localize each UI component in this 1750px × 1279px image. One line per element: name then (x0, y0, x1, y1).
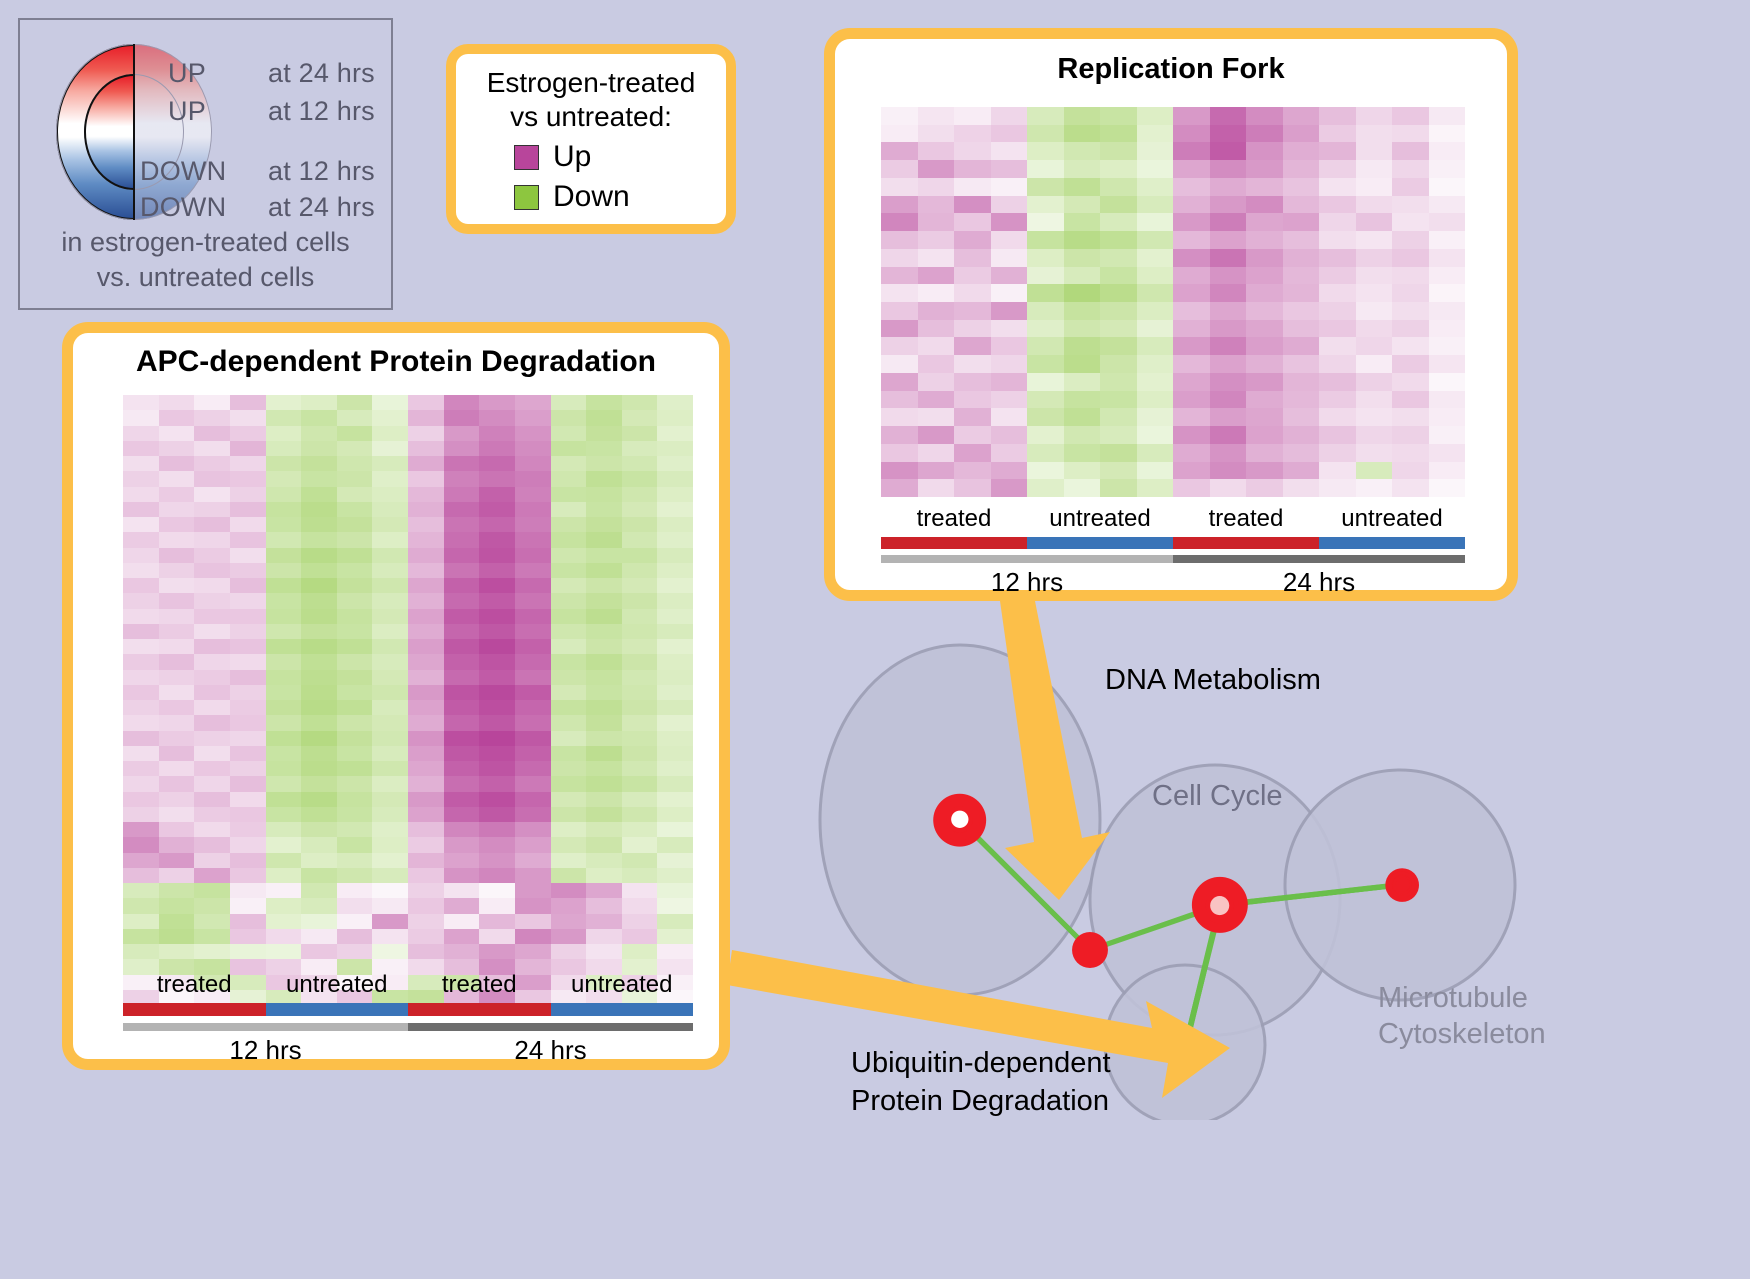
heatmap-cell (337, 517, 373, 532)
heatmap-cell (159, 624, 195, 639)
heatmap-cell (337, 426, 373, 441)
heatmap-cell (1356, 373, 1393, 391)
heatmap-cell (586, 837, 622, 852)
heatmap-cell (991, 462, 1028, 480)
heatmap-cell (123, 746, 159, 761)
heatmap-cell (408, 761, 444, 776)
heatmap-cell (1027, 231, 1064, 249)
column-group-label: untreated (1027, 505, 1173, 533)
heatmap-cell (515, 593, 551, 608)
heatmap-cell (123, 670, 159, 685)
heatmap-cell (408, 441, 444, 456)
heatmap-cell (622, 700, 658, 715)
heatmap-cell (1429, 462, 1466, 480)
heatmap-cell (479, 929, 515, 944)
heatmap-cell (515, 426, 551, 441)
heatmap-cell (657, 807, 693, 822)
heatmap-cell (408, 776, 444, 791)
heatmap-cell (479, 410, 515, 425)
heatmap-cell (301, 944, 337, 959)
heatmap-cell (586, 593, 622, 608)
heatmap-cell (301, 776, 337, 791)
heatmap-cell (337, 532, 373, 547)
heatmap-cell (230, 548, 266, 563)
heatmap-cell (479, 883, 515, 898)
heatmap-cell (586, 548, 622, 563)
heatmap-cell (1064, 355, 1101, 373)
heatmap-cell (515, 563, 551, 578)
heatmap-cell (1319, 249, 1356, 267)
heatmap-cell (551, 898, 587, 913)
heatmap-cell (408, 532, 444, 547)
heatmap-cell (622, 624, 658, 639)
network-node-core (951, 811, 968, 828)
heatmap-cell (194, 914, 230, 929)
heatmap-cell (918, 231, 955, 249)
heatmap-cell (194, 395, 230, 410)
heatmap-cell (622, 548, 658, 563)
heatmap-cell (551, 593, 587, 608)
heatmap-cell (194, 609, 230, 624)
heatmap-cell (622, 792, 658, 807)
heatmap-cell (1100, 444, 1137, 462)
heatmap-cell (159, 548, 195, 563)
heatmap-cell (123, 654, 159, 669)
heatmap-cell (194, 898, 230, 913)
heatmap-cell (1356, 160, 1393, 178)
heatmap-cell (1137, 337, 1174, 355)
heatmap-cell (159, 502, 195, 517)
heatmap-cell (337, 471, 373, 486)
heatmap-cell (408, 548, 444, 563)
heatmap-cell (1429, 426, 1466, 444)
heatmap-cell (918, 408, 955, 426)
heatmap-cell (1356, 284, 1393, 302)
heatmap-cell (954, 196, 991, 214)
heatmap-cell (1210, 479, 1247, 497)
heatmap-cell (1392, 213, 1429, 231)
heatmap-cell (408, 837, 444, 852)
heatmap-cell (1210, 284, 1247, 302)
heatmap-cell (1356, 107, 1393, 125)
heatmap-cell (266, 883, 302, 898)
heatmap-cell (1027, 160, 1064, 178)
heatmap-cell (372, 837, 408, 852)
heatmap-cell (1246, 373, 1283, 391)
heatmap-cell (230, 944, 266, 959)
heatmap-cell (479, 868, 515, 883)
heatmap-cell (1027, 479, 1064, 497)
heatmap-cell (444, 654, 480, 669)
heatmap-cell (1210, 337, 1247, 355)
apc-panel-title: APC-dependent Protein Degradation (73, 333, 719, 379)
heatmap-cell (1246, 178, 1283, 196)
heatmap-cell (266, 532, 302, 547)
heatmap-cell (230, 670, 266, 685)
heatmap-cell (230, 746, 266, 761)
heatmap-cell (1246, 107, 1283, 125)
column-group-label: untreated (1319, 505, 1465, 533)
heatmap-cell (954, 302, 991, 320)
heatmap-cell (657, 517, 693, 532)
heatmap-cell (515, 395, 551, 410)
heatmap-cell (657, 792, 693, 807)
heatmap-cell (159, 532, 195, 547)
heatmap-cell (444, 517, 480, 532)
heatmap-cell (918, 249, 955, 267)
heatmap-cell (1210, 391, 1247, 409)
heatmap-cell (657, 883, 693, 898)
heatmap-cell (657, 868, 693, 883)
heatmap-cell (479, 441, 515, 456)
heatmap-cell (372, 853, 408, 868)
heatmap-cell (1246, 320, 1283, 338)
heatmap-cell (1027, 249, 1064, 267)
heatmap-cell (337, 441, 373, 456)
heatmap-cell (1064, 142, 1101, 160)
heatmap-cell (372, 578, 408, 593)
heatmap-cell (372, 639, 408, 654)
heatmap-cell (1392, 249, 1429, 267)
heatmap-cell (1246, 444, 1283, 462)
heatmap-cell (159, 639, 195, 654)
heatmap-cell (586, 670, 622, 685)
heatmap-cell (551, 548, 587, 563)
heatmap-cell (586, 761, 622, 776)
heatmap-cell (337, 883, 373, 898)
heatmap-cell (301, 898, 337, 913)
heatmap-cell (657, 639, 693, 654)
heatmap-cell (1064, 337, 1101, 355)
heatmap-cell (230, 609, 266, 624)
heatmap-cell (1246, 125, 1283, 143)
heatmap-cell (337, 776, 373, 791)
heatmap-cell (266, 456, 302, 471)
heatmap-cell (1319, 337, 1356, 355)
heatmap-cell (515, 441, 551, 456)
heatmap-cell (1246, 426, 1283, 444)
heatmap-cell (408, 517, 444, 532)
heatmap-cell (266, 731, 302, 746)
heatmap-cell (1173, 178, 1210, 196)
heatmap-cell (159, 883, 195, 898)
heatmap-cell (123, 639, 159, 654)
heatmap-cell (1137, 107, 1174, 125)
heatmap-cell (622, 578, 658, 593)
heatmap-cell (1027, 373, 1064, 391)
heatmap-cell (266, 654, 302, 669)
heatmap-cell (657, 715, 693, 730)
heatmap-cell (1027, 178, 1064, 196)
heatmap-cell (1319, 479, 1356, 497)
heatmap-cell (1137, 231, 1174, 249)
heatmap-cell (266, 548, 302, 563)
heatmap-cell (622, 441, 658, 456)
heatmap-cell (1137, 125, 1174, 143)
heatmap-cell (622, 898, 658, 913)
heatmap-cell (515, 731, 551, 746)
heatmap-cell (301, 441, 337, 456)
heatmap-cell (657, 441, 693, 456)
heatmap-cell (408, 822, 444, 837)
heatmap-cell (551, 837, 587, 852)
heatmap-cell (918, 213, 955, 231)
heatmap-cell (408, 700, 444, 715)
heatmap-cell (1283, 125, 1320, 143)
network-node (1072, 932, 1108, 968)
heatmap-cell (622, 837, 658, 852)
heatmap-cell (1064, 107, 1101, 125)
heatmap-cell (408, 807, 444, 822)
heatmap-cell (301, 883, 337, 898)
heatmap-cell (586, 944, 622, 959)
heatmap-cell (1246, 302, 1283, 320)
heatmap-cell (266, 898, 302, 913)
heatmap-cell (515, 776, 551, 791)
heatmap-cell (1319, 408, 1356, 426)
heatmap-cell (372, 700, 408, 715)
heatmap-cell (337, 914, 373, 929)
heatmap-cell (194, 746, 230, 761)
heatmap-cell (408, 395, 444, 410)
heatmap-cell (301, 517, 337, 532)
heatmap-cell (123, 441, 159, 456)
heatmap-cell (1137, 444, 1174, 462)
heatmap-cell (1319, 302, 1356, 320)
heatmap-cell (1173, 444, 1210, 462)
heatmap-cell (881, 320, 918, 338)
heatmap-cell (444, 410, 480, 425)
heatmap-cell (194, 441, 230, 456)
heatmap-cell (622, 609, 658, 624)
heatmap-cell (444, 761, 480, 776)
heatmap-cell (159, 456, 195, 471)
heatmap-cell (515, 898, 551, 913)
heatmap-cell (1319, 178, 1356, 196)
heatmap-cell (1100, 196, 1137, 214)
heatmap-cell (301, 609, 337, 624)
heatmap-cell (408, 624, 444, 639)
heatmap-cell (123, 792, 159, 807)
heatmap-cell (1137, 355, 1174, 373)
heatmap-cell (159, 868, 195, 883)
heatmap-cell (266, 746, 302, 761)
heatmap-cell (194, 487, 230, 502)
down-label: Down (553, 180, 630, 214)
heatmap-cell (159, 426, 195, 441)
heatmap-cell (159, 792, 195, 807)
heatmap-cell (194, 761, 230, 776)
heatmap-cell (551, 700, 587, 715)
heatmap-cell (991, 107, 1028, 125)
heatmap-cell (479, 914, 515, 929)
heatmap-cell (301, 853, 337, 868)
heatmap-cell (657, 944, 693, 959)
heatmap-cell (586, 685, 622, 700)
heatmap-cell (918, 178, 955, 196)
heatmap-cell (657, 670, 693, 685)
heatmap-cell (1429, 231, 1466, 249)
heatmap-cell (551, 670, 587, 685)
heatmap-cell (444, 746, 480, 761)
heatmap-cell (266, 914, 302, 929)
apc-group-labels: treateduntreatedtreateduntreated (123, 971, 693, 999)
heatmap-cell (1392, 284, 1429, 302)
heatmap-cell (1064, 249, 1101, 267)
heatmap-cell (479, 532, 515, 547)
heatmap-cell (1356, 355, 1393, 373)
heatmap-cell (123, 822, 159, 837)
heatmap-cell (881, 302, 918, 320)
heatmap-cell (1173, 249, 1210, 267)
heatmap-cell (954, 479, 991, 497)
heatmap-cell (408, 609, 444, 624)
network-node (1395, 878, 1409, 892)
heatmap-cell (301, 929, 337, 944)
heatmap-cell (515, 883, 551, 898)
heatmap-cell (1027, 125, 1064, 143)
heatmap-cell (918, 196, 955, 214)
heatmap-cell (1173, 320, 1210, 338)
heatmap-cell (1027, 444, 1064, 462)
heatmap-cell (372, 868, 408, 883)
heatmap-cell (954, 231, 991, 249)
heatmap-cell (1283, 160, 1320, 178)
heatmap-cell (337, 944, 373, 959)
heatmap-cell (372, 426, 408, 441)
heatmap-cell (515, 944, 551, 959)
heatmap-cell (337, 898, 373, 913)
ring-label-state-1: UP (168, 96, 206, 127)
heatmap-cell (479, 837, 515, 852)
treatment-color-bar (551, 1003, 694, 1016)
heatmap-cell (881, 337, 918, 355)
heatmap-cell (1173, 408, 1210, 426)
heatmap-cell (337, 593, 373, 608)
heatmap-cell (123, 715, 159, 730)
heatmap-cell (372, 715, 408, 730)
heatmap-cell (479, 624, 515, 639)
heatmap-cell (194, 807, 230, 822)
heatmap-cell (622, 731, 658, 746)
heatmap-cell (586, 456, 622, 471)
heatmap-cell (1100, 178, 1137, 196)
heatmap-cell (991, 125, 1028, 143)
heatmap-cell (1100, 373, 1137, 391)
heatmap-cell (1173, 284, 1210, 302)
heatmap-cell (515, 487, 551, 502)
heatmap-cell (515, 837, 551, 852)
estrogen-legend-title: Estrogen-treated vs untreated: (456, 54, 726, 134)
heatmap-cell (266, 776, 302, 791)
heatmap-cell (1173, 107, 1210, 125)
heatmap-cell (230, 929, 266, 944)
heatmap-cell (1246, 284, 1283, 302)
heatmap-cell (1319, 462, 1356, 480)
heatmap-cell (1210, 302, 1247, 320)
heatmap-cell (1429, 302, 1466, 320)
estrogen-title-line2: vs untreated: (456, 100, 726, 134)
heatmap-cell (1356, 391, 1393, 409)
heatmap-cell (1173, 196, 1210, 214)
heatmap-cell (301, 715, 337, 730)
heatmap-cell (444, 456, 480, 471)
heatmap-cell (1137, 320, 1174, 338)
heatmap-cell (123, 593, 159, 608)
cluster-label-microtubule-cytoskeleton: Microtubule Cytoskeleton (1378, 980, 1546, 1052)
heatmap-cell (266, 700, 302, 715)
heatmap-cell (1356, 178, 1393, 196)
heatmap-cell (1429, 320, 1466, 338)
heatmap-cell (1100, 391, 1137, 409)
heatmap-cell (551, 853, 587, 868)
heatmap-cell (479, 456, 515, 471)
heatmap-cell (515, 822, 551, 837)
heatmap-cell (444, 624, 480, 639)
heatmap-cell (408, 456, 444, 471)
heatmap-cell (1319, 444, 1356, 462)
heatmap-cell (551, 426, 587, 441)
heatmap-cell (1319, 284, 1356, 302)
heatmap-cell (444, 822, 480, 837)
heatmap-cell (551, 822, 587, 837)
heatmap-cell (1429, 249, 1466, 267)
heatmap-cell (1137, 249, 1174, 267)
heatmap-cell (337, 929, 373, 944)
heatmap-cell (337, 563, 373, 578)
heatmap-cell (551, 868, 587, 883)
heatmap-cell (1319, 373, 1356, 391)
heatmap-cell (479, 853, 515, 868)
heatmap-cell (622, 532, 658, 547)
heatmap-cell (586, 776, 622, 791)
heatmap-cell (301, 670, 337, 685)
heatmap-cell (1246, 462, 1283, 480)
heatmap-cell (1027, 196, 1064, 214)
heatmap-cell (515, 685, 551, 700)
heatmap-cell (1173, 302, 1210, 320)
heatmap-cell (918, 125, 955, 143)
heatmap-cell (881, 231, 918, 249)
heatmap-cell (1027, 391, 1064, 409)
heatmap-cell (1173, 267, 1210, 285)
heatmap-cell (954, 462, 991, 480)
heatmap-cell (194, 929, 230, 944)
heatmap-cell (1137, 142, 1174, 160)
heatmap-cell (551, 883, 587, 898)
heatmap-cell (266, 853, 302, 868)
heatmap-cell (266, 822, 302, 837)
heatmap-cell (301, 746, 337, 761)
heatmap-cell (1283, 213, 1320, 231)
heatmap-cell (444, 914, 480, 929)
apc-time-bar (123, 1023, 693, 1031)
heatmap-cell (159, 929, 195, 944)
heatmap-cell (991, 391, 1028, 409)
heatmap-cell (1064, 320, 1101, 338)
heatmap-cell (1283, 249, 1320, 267)
heatmap-cell (1356, 267, 1393, 285)
heatmap-cell (1137, 267, 1174, 285)
heatmap-cell (1173, 213, 1210, 231)
heatmap-cell (1100, 160, 1137, 178)
heatmap-cell (622, 563, 658, 578)
heatmap-cell (408, 426, 444, 441)
heatmap-cell (586, 395, 622, 410)
heatmap-cell (1100, 408, 1137, 426)
heatmap-cell (918, 107, 955, 125)
heatmap-cell (408, 502, 444, 517)
